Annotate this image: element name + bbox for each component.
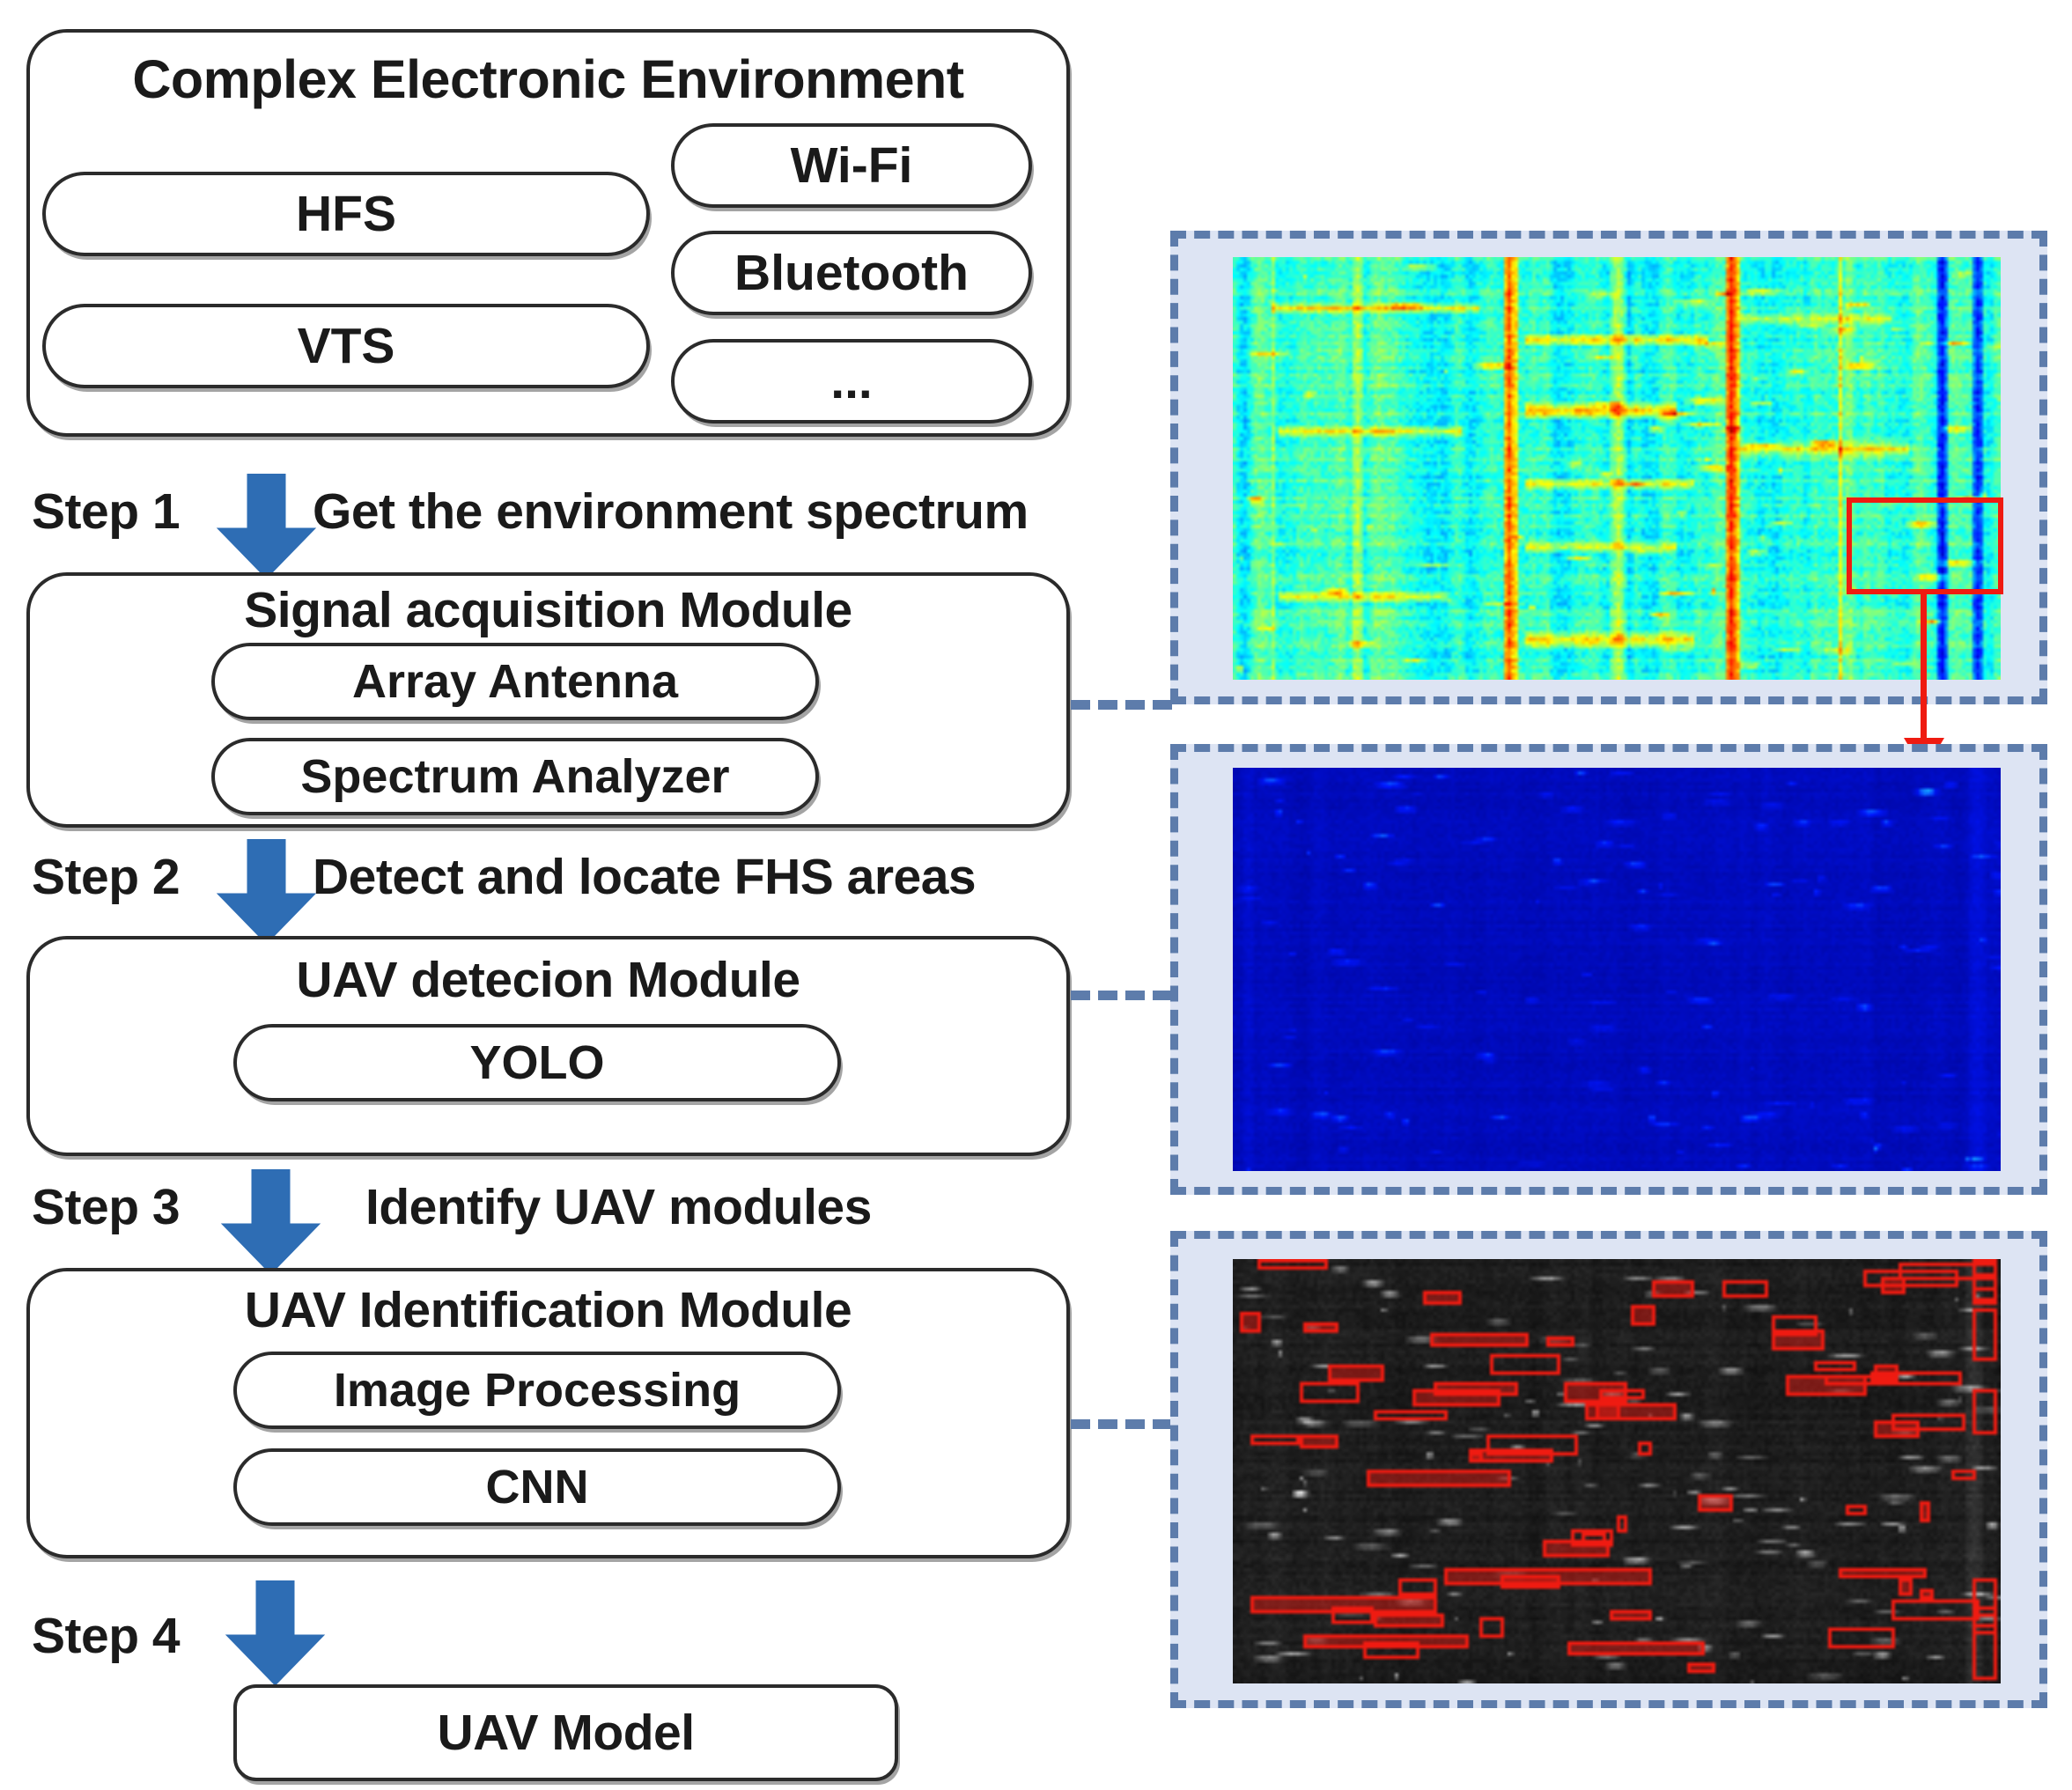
- environment-spectrum-image: [1233, 257, 2001, 680]
- step-4-label: Step 4: [32, 1607, 180, 1665]
- environment-item-label: VTS: [298, 317, 395, 375]
- module-component-label: CNN: [486, 1460, 589, 1514]
- connector-identification-to-hops: [1071, 1419, 1172, 1429]
- environment-item-vts[interactable]: VTS: [42, 304, 650, 388]
- environment-item-label: Wi-Fi: [791, 136, 913, 195]
- step-3-arrow-icon: [220, 1169, 321, 1275]
- step-1-label: Step 1: [32, 482, 180, 541]
- step-2-label: Step 2: [32, 848, 180, 906]
- environment-box-title: Complex Electronic Environment: [26, 48, 1070, 110]
- module-component-label: YOLO: [469, 1035, 604, 1090]
- module-component-label: Image Processing: [334, 1363, 741, 1418]
- uav-model-output-label: UAV Model: [233, 1704, 898, 1762]
- connector-signal-to-spectrum: [1071, 700, 1172, 710]
- environment-item-label: ...: [830, 352, 873, 410]
- signal-acquisition-module-title: Signal acquisition Module: [26, 581, 1070, 639]
- step-2-arrow-icon: [216, 839, 317, 945]
- module-component-label: Array Antenna: [352, 654, 678, 709]
- step-3-description: Identify UAV modules: [365, 1178, 872, 1236]
- step-4-arrow-icon: [225, 1580, 326, 1686]
- environment-item-ellipsis[interactable]: ...: [671, 339, 1032, 424]
- module-component-array-antenna[interactable]: Array Antenna: [211, 643, 819, 720]
- environment-item-label: Bluetooth: [734, 244, 969, 302]
- step-2-description: Detect and locate FHS areas: [313, 848, 976, 906]
- environment-item-wifi[interactable]: Wi-Fi: [671, 123, 1032, 208]
- environment-item-hfs[interactable]: HFS: [42, 172, 650, 256]
- roi-pointer-line: [1921, 592, 1927, 747]
- environment-item-label: HFS: [296, 185, 396, 243]
- step-3-label: Step 3: [32, 1178, 180, 1236]
- module-component-label: Spectrum Analyzer: [300, 749, 729, 804]
- fhs-region-image: [1233, 768, 2001, 1171]
- step-1-description: Get the environment spectrum: [313, 482, 1029, 541]
- connector-detection-to-fhs: [1071, 991, 1172, 1000]
- uav-detection-module-title: UAV detecion Module: [26, 951, 1070, 1009]
- detected-hops-image: [1233, 1259, 2001, 1683]
- module-component-image-processing[interactable]: Image Processing: [233, 1352, 841, 1429]
- module-component-yolo[interactable]: YOLO: [233, 1024, 841, 1101]
- module-component-cnn[interactable]: CNN: [233, 1448, 841, 1526]
- module-component-spectrum-analyzer[interactable]: Spectrum Analyzer: [211, 738, 819, 815]
- environment-item-bluetooth[interactable]: Bluetooth: [671, 231, 1032, 315]
- uav-identification-module-title: UAV Identification Module: [26, 1281, 1070, 1339]
- step-1-arrow-icon: [216, 474, 317, 579]
- roi-highlight-box: [1847, 497, 2003, 594]
